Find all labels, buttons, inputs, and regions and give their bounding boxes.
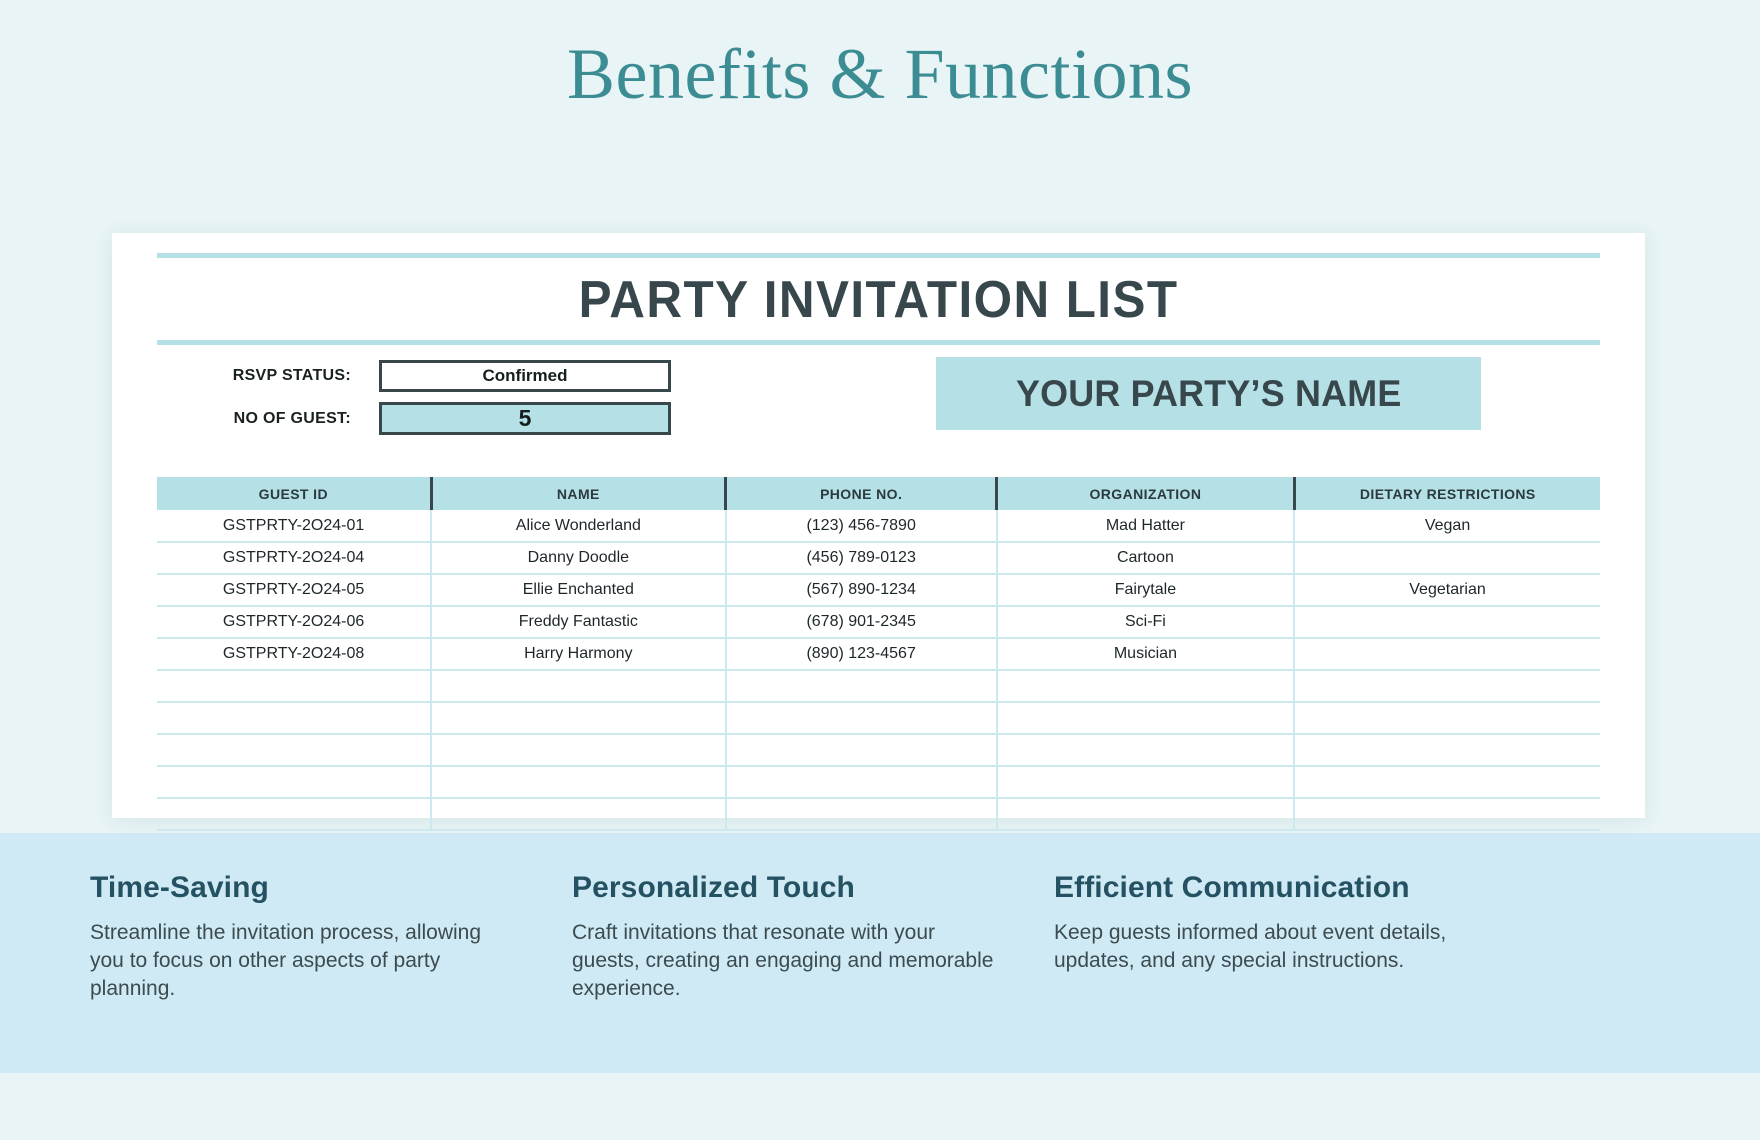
cell-phone-empty[interactable] [726,702,997,734]
cell-name-empty[interactable] [431,798,725,830]
cell-phone[interactable]: (456) 789-0123 [726,542,997,574]
cell-organization-empty[interactable] [997,798,1294,830]
cell-guest-id-empty[interactable] [157,734,431,766]
cell-guest-id[interactable]: GSTPRTY-2O24-08 [157,638,431,670]
party-name-text: YOUR PARTY’S NAME [1016,373,1401,415]
rsvp-status-label: RSVP STATUS: [157,367,379,385]
meta-section: RSVP STATUS: Confirmed NO OF GUEST: 5 YO… [157,357,1600,475]
cell-name[interactable]: Harry Harmony [431,638,725,670]
page-title: Benefits & Functions [0,38,1760,110]
table-row[interactable]: GSTPRTY-2O24-04Danny Doodle(456) 789-012… [157,542,1600,574]
benefit-column-2: Personalized TouchCraft invitations that… [572,871,1002,1003]
guest-count-input[interactable]: 5 [379,402,671,435]
cell-organization[interactable]: Sci-Fi [997,606,1294,638]
cell-name-empty[interactable] [431,702,725,734]
benefit-column-1: Time-SavingStreamline the invitation pro… [90,871,520,1003]
cell-dietary[interactable] [1294,638,1600,670]
cell-name-empty[interactable] [431,734,725,766]
spreadsheet-title: PARTY INVITATION LIST [193,258,1564,340]
cell-dietary-empty[interactable] [1294,798,1600,830]
cell-organization[interactable]: Cartoon [997,542,1294,574]
benefit-column-3: Efficient CommunicationKeep guests infor… [1054,871,1494,1003]
column-header-name[interactable]: NAME [431,477,725,510]
benefit-title: Time-Saving [90,871,520,905]
column-header-dietary[interactable]: DIETARY RESTRICTIONS [1294,477,1600,510]
title-rule-bottom [157,340,1600,345]
rsvp-status-row: RSVP STATUS: Confirmed [157,360,671,392]
cell-name[interactable]: Danny Doodle [431,542,725,574]
cell-name[interactable]: Ellie Enchanted [431,574,725,606]
party-name-banner[interactable]: YOUR PARTY’S NAME [936,357,1481,430]
cell-dietary[interactable] [1294,542,1600,574]
benefit-title: Personalized Touch [572,871,1002,905]
guest-count-row: NO OF GUEST: 5 [157,402,671,435]
benefit-title: Efficient Communication [1054,871,1494,905]
cell-organization-empty[interactable] [997,702,1294,734]
cell-dietary-empty[interactable] [1294,734,1600,766]
cell-phone[interactable]: (890) 123-4567 [726,638,997,670]
cell-guest-id-empty[interactable] [157,670,431,702]
cell-phone-empty[interactable] [726,670,997,702]
cell-organization-empty[interactable] [997,734,1294,766]
column-header-organization[interactable]: ORGANIZATION [997,477,1294,510]
cell-dietary[interactable] [1294,606,1600,638]
cell-organization-empty[interactable] [997,766,1294,798]
rsvp-status-input[interactable]: Confirmed [379,360,671,392]
cell-guest-id-empty[interactable] [157,766,431,798]
table-row[interactable]: GSTPRTY-2O24-01Alice Wonderland(123) 456… [157,510,1600,542]
cell-name[interactable]: Alice Wonderland [431,510,725,542]
cell-organization[interactable]: Fairytale [997,574,1294,606]
cell-dietary[interactable]: Vegetarian [1294,574,1600,606]
guest-list-table: GUEST ID NAME PHONE NO. ORGANIZATION DIE… [157,477,1600,831]
cell-phone-empty[interactable] [726,734,997,766]
table-row-empty[interactable] [157,798,1600,830]
spreadsheet-content: PARTY INVITATION LIST RSVP STATUS: Confi… [157,253,1600,831]
benefits-columns: Time-SavingStreamline the invitation pro… [90,871,1690,1003]
table-row[interactable]: GSTPRTY-2O24-05Ellie Enchanted(567) 890-… [157,574,1600,606]
cell-name-empty[interactable] [431,670,725,702]
cell-organization[interactable]: Mad Hatter [997,510,1294,542]
guest-count-label: NO OF GUEST: [157,410,379,428]
table-header: GUEST ID NAME PHONE NO. ORGANIZATION DIE… [157,477,1600,510]
table-header-row: GUEST ID NAME PHONE NO. ORGANIZATION DIE… [157,477,1600,510]
cell-guest-id[interactable]: GSTPRTY-2O24-01 [157,510,431,542]
cell-phone-empty[interactable] [726,798,997,830]
cell-guest-id[interactable]: GSTPRTY-2O24-05 [157,574,431,606]
cell-phone-empty[interactable] [726,766,997,798]
benefit-body: Streamline the invitation process, allow… [90,919,520,1003]
cell-dietary[interactable]: Vegan [1294,510,1600,542]
cell-phone[interactable]: (567) 890-1234 [726,574,997,606]
cell-phone[interactable]: (123) 456-7890 [726,510,997,542]
cell-name[interactable]: Freddy Fantastic [431,606,725,638]
cell-guest-id[interactable]: GSTPRTY-2O24-04 [157,542,431,574]
table-row[interactable]: GSTPRTY-2O24-08Harry Harmony(890) 123-45… [157,638,1600,670]
benefit-body: Keep guests informed about event details… [1054,919,1494,975]
cell-guest-id-empty[interactable] [157,702,431,734]
table-row[interactable]: GSTPRTY-2O24-06Freddy Fantastic(678) 901… [157,606,1600,638]
cell-phone[interactable]: (678) 901-2345 [726,606,997,638]
column-header-phone[interactable]: PHONE NO. [726,477,997,510]
spreadsheet-card: PARTY INVITATION LIST RSVP STATUS: Confi… [112,233,1645,818]
column-header-guest-id[interactable]: GUEST ID [157,477,431,510]
table-row-empty[interactable] [157,670,1600,702]
cell-dietary-empty[interactable] [1294,766,1600,798]
cell-dietary-empty[interactable] [1294,670,1600,702]
cell-guest-id-empty[interactable] [157,798,431,830]
benefits-band: Time-SavingStreamline the invitation pro… [0,833,1760,1073]
cell-organization-empty[interactable] [997,670,1294,702]
cell-name-empty[interactable] [431,766,725,798]
table-row-empty[interactable] [157,702,1600,734]
table-body: GSTPRTY-2O24-01Alice Wonderland(123) 456… [157,510,1600,830]
cell-organization[interactable]: Musician [997,638,1294,670]
cell-dietary-empty[interactable] [1294,702,1600,734]
table-row-empty[interactable] [157,734,1600,766]
table-row-empty[interactable] [157,766,1600,798]
benefit-body: Craft invitations that resonate with you… [572,919,1002,1003]
cell-guest-id[interactable]: GSTPRTY-2O24-06 [157,606,431,638]
